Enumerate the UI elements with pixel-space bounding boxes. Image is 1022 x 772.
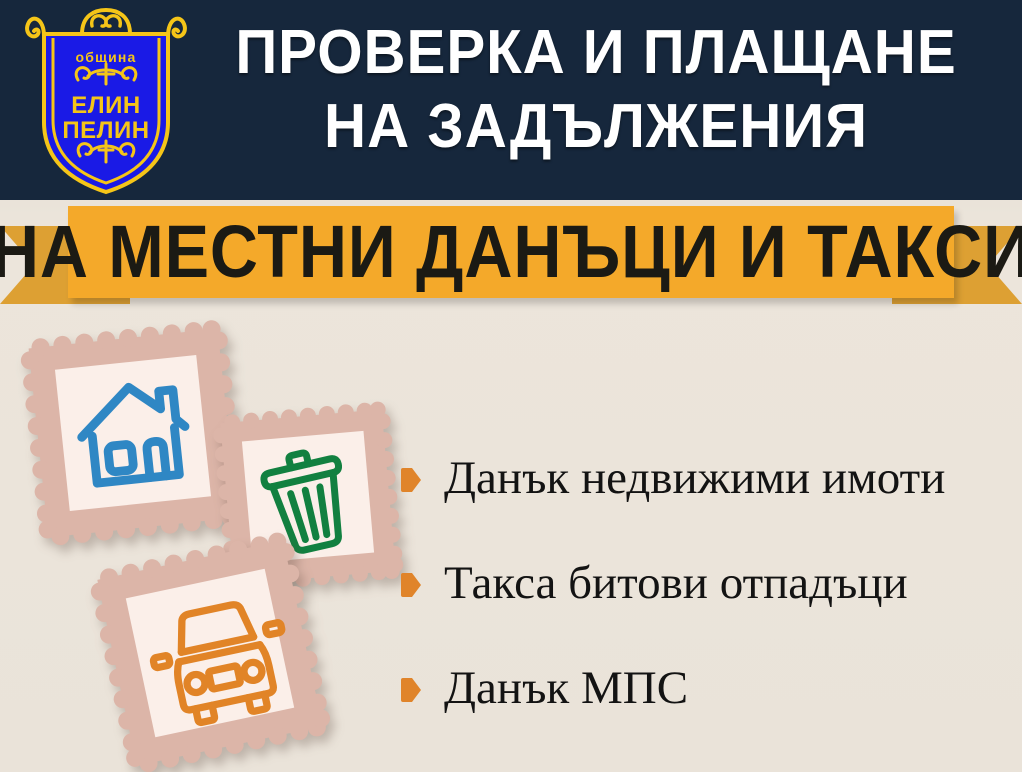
page-title-line-2: НА ЗАДЪЛЖЕНИЯ xyxy=(214,90,977,164)
list-item-label: Данък МПС xyxy=(444,662,688,714)
header-band: община ЕЛИН ПЕЛИН xyxy=(0,0,1022,200)
tax-type-list: Данък недвижими имоти Такса битови отпад… xyxy=(400,425,1010,740)
crest-name-line-1: ЕЛИН xyxy=(71,92,140,119)
list-item: Данък недвижими имоти xyxy=(400,425,1010,530)
page-title: ПРОВЕРКА И ПЛАЩАНЕ НА ЗАДЪЛЖЕНИЯ xyxy=(190,16,1002,164)
stamp-card-car xyxy=(85,528,335,772)
arrow-bullet-icon xyxy=(400,572,422,598)
poster-canvas: община ЕЛИН ПЕЛИН xyxy=(0,0,1022,772)
arrow-bullet-icon xyxy=(400,467,422,493)
list-item-label: Данък недвижими имоти xyxy=(444,452,945,504)
ribbon-text: НА МЕСТНИ ДАНЪЦИ И ТАКСИ xyxy=(0,215,1022,289)
list-item: Такса битови отпадъци xyxy=(400,530,1010,635)
list-item-label: Такса битови отпадъци xyxy=(444,557,908,609)
municipality-crest: община ЕЛИН ПЕЛИН xyxy=(20,4,192,196)
list-item: Данък МПС xyxy=(400,635,1010,740)
ribbon-banner: НА МЕСТНИ ДАНЪЦИ И ТАКСИ xyxy=(0,200,1022,310)
arrow-bullet-icon xyxy=(400,677,422,703)
page-title-line-1: ПРОВЕРКА И ПЛАЩАНЕ xyxy=(214,16,977,90)
ribbon-band: НА МЕСТНИ ДАНЪЦИ И ТАКСИ xyxy=(68,206,954,298)
